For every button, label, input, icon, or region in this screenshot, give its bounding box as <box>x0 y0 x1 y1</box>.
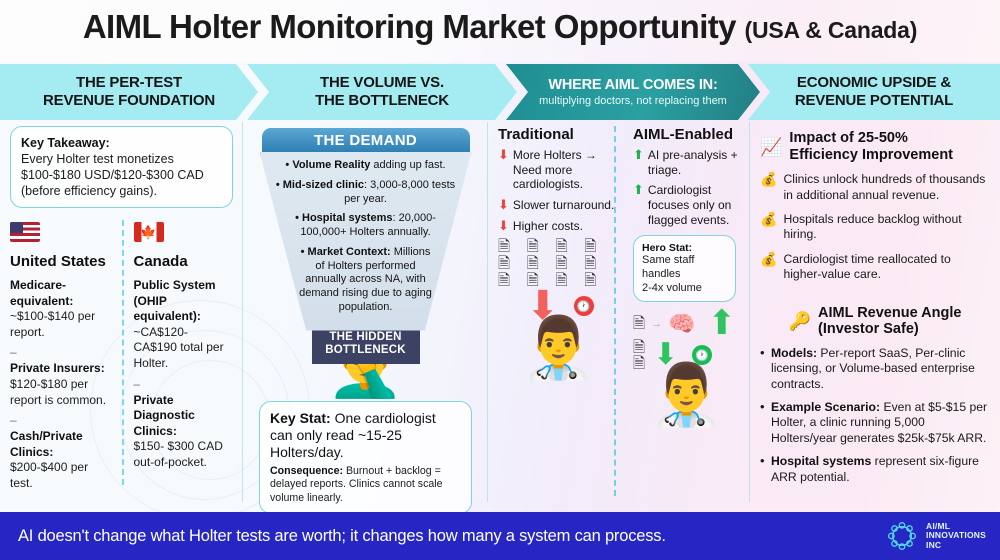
traditional-item-text: Slower turnaround. <box>513 198 614 213</box>
banner-tab-subtitle: multiplying doctors, not replacing them <box>539 95 727 107</box>
panel-title: Traditional <box>498 126 619 143</box>
funnel-item: • Volume Reality adding up fast. <box>275 159 457 173</box>
rate-text: ~CA$120-CA$190 total per Holter. <box>134 325 224 370</box>
key-stat-card: Key Stat: One cardiologist can only read… <box>259 401 472 514</box>
bottleneck-line2: BOTTLENECK <box>325 344 406 356</box>
revenue-item-label: Models: <box>771 346 817 360</box>
rate-item: Public System (OHIP equivalent): ~CA$120… <box>134 278 226 372</box>
document-icon: 🗎 <box>498 256 527 271</box>
country-canada: Canada Public System (OHIP equivalent): … <box>122 222 234 492</box>
key-stat-label: Key Stat: <box>270 410 331 426</box>
banner-tab-volume-bottleneck[interactable]: THE VOLUME VS. THE BOTTLENECK <box>247 64 517 120</box>
key-icon: 🔑 <box>789 312 811 330</box>
document-icon: 🗎 <box>556 256 585 271</box>
rate-item: Cash/Private Clinics: $200-$400 per test… <box>10 429 114 491</box>
document-icon: 🗎 <box>633 340 645 355</box>
canada-flag-icon <box>134 222 164 242</box>
comparison-divider <box>614 126 616 496</box>
funnel-body: • Volume Reality adding up fast. • Mid-s… <box>260 152 472 331</box>
column-economic-upside: 📈 Impact of 25-50% Efficiency Improvemen… <box>750 120 1000 505</box>
revenue-angle-section-header: 🔑 AIML Revenue Angle (Investor Safe) <box>760 305 990 338</box>
traditional-item: ⬇ Slower turnaround. <box>498 198 619 213</box>
document-icon: 🗎 <box>498 239 527 254</box>
efficiency-title-line1: Impact of 25-50% <box>789 130 907 146</box>
revenue-item-label: Hospital systems <box>771 454 871 468</box>
consequence-label: Consequence: <box>270 465 343 477</box>
revenue-angle-title-line1: AIML Revenue Angle <box>818 305 961 321</box>
banner-tab-per-test-revenue[interactable]: THE PER-TEST REVENUE FOUNDATION <box>0 64 258 120</box>
green-up-arrow-icon: ⬆ <box>707 310 736 337</box>
document-icon: 🗎 <box>527 239 556 254</box>
document-icon: 🗎 <box>633 316 645 331</box>
banner-tab-where-aiml-comes-in[interactable]: WHERE AIML COMES IN: multiplying doctors… <box>506 64 760 120</box>
rate-item: Medicare-equivalent: ~$100-$140 per repo… <box>10 278 114 340</box>
efficiency-item-text: Clinics unlock hundreds of thousands in … <box>783 172 990 203</box>
funnel-item-label: Mid-sized clinic <box>283 179 364 191</box>
key-stat-line: Key Stat: One cardiologist can only read… <box>270 410 461 461</box>
rate-label: Public System (OHIP equivalent): <box>134 278 216 323</box>
banner-tab-line1: WHERE AIML COMES IN: <box>548 77 717 93</box>
item-separator: – <box>134 377 226 391</box>
arrow-up-icon: ⬆ <box>633 183 644 197</box>
arrow-up-icon: ⬆ <box>633 148 644 162</box>
rate-text: $120-$180 per report is common. <box>10 377 106 407</box>
page-title-main: AIML Holter Monitoring Market Opportunit… <box>83 8 736 45</box>
efficiency-item: 💰 Cardiologist time reallocated to highe… <box>760 252 990 283</box>
rate-label: Medicare-equivalent: <box>10 278 73 308</box>
comparison-panels: Traditional ⬇ More Holters → Need more c… <box>498 126 740 425</box>
rate-text: $200-$400 per test. <box>10 460 88 490</box>
page-title-region: (USA & Canada) <box>744 17 917 43</box>
revenue-item: Models: Per-report SaaS, Per-clinic lice… <box>760 346 990 392</box>
column-where-aiml-comes-in: Traditional ⬇ More Holters → Need more c… <box>488 120 750 505</box>
funnel-item-label: Hospital systems <box>302 212 392 224</box>
panel-traditional: Traditional ⬇ More Holters → Need more c… <box>498 126 619 425</box>
document-stack-group: 🗎🗎🗎🗎 🗎🗎🗎🗎 🗎🗎🗎🗎 <box>498 239 613 288</box>
logo-text: AI/ML INNOVATIONS INC <box>926 522 986 551</box>
arrow-down-icon: ⬇ <box>498 148 509 162</box>
revenue-item: Example Scenario: Even at $5-$15 per Hol… <box>760 400 990 446</box>
efficiency-item-text: Hospitals reduce backlog without hiring. <box>783 212 990 243</box>
demand-funnel: THE DEMAND • Volume Reality adding up fa… <box>253 128 478 333</box>
logo-line3: INC <box>926 541 986 551</box>
key-takeaway-label: Key Takeaway: <box>21 136 110 150</box>
country-name: Canada <box>134 253 226 270</box>
banner-tab-economic-upside[interactable]: ECONOMIC UPSIDE & REVENUE POTENTIAL <box>748 64 1000 120</box>
country-name: United States <box>10 253 114 270</box>
document-icon: 🗎 <box>633 356 645 371</box>
coin-icon: 💰 <box>760 212 777 243</box>
rate-text: ~$100-$140 per report. <box>10 309 95 339</box>
columns-container: Key Takeaway: Every Holter test monetize… <box>0 120 1000 505</box>
rate-text: $150- $300 CAD out-of-pocket. <box>134 439 223 469</box>
aiml-flow-top: 🗎 → 🧠 ⬆ <box>633 310 740 337</box>
hero-stat-label: Hero Stat: <box>642 242 727 254</box>
efficiency-section-header: 📈 Impact of 25-50% Efficiency Improvemen… <box>760 130 990 163</box>
hero-stat-card: Hero Stat: Same staff handles 2-4x volum… <box>633 235 736 302</box>
company-logo: AI/ML INNOVATIONS INC <box>885 519 986 553</box>
rate-label: Private Insurers: <box>10 361 105 375</box>
footer-bar: AI doesn't change what Holter tests are … <box>0 512 1000 560</box>
rate-item: Private Diagnostic Clinics: $150- $300 C… <box>134 393 226 471</box>
funnel-item-label: Market Context: <box>308 246 391 258</box>
funnel-item: • Mid-sized clinic: 3,000-8,000 tests pe… <box>275 179 457 207</box>
document-icon: 🗎 <box>584 273 613 288</box>
item-separator: – <box>10 345 114 359</box>
country-comparison: United States Medicare-equivalent: ~$100… <box>10 222 233 492</box>
traditional-item: ⬇ More Holters → Need more cardiologists… <box>498 148 619 192</box>
aiml-item: ⬆ AI pre-analysis + triage. <box>633 148 740 177</box>
arrow-right-icon: → <box>651 318 662 330</box>
efficiency-item: 💰 Hospitals reduce backlog without hirin… <box>760 212 990 243</box>
document-icon: 🗎 <box>498 273 527 288</box>
country-divider <box>122 220 124 485</box>
panel-title: AIML-Enabled <box>633 126 740 143</box>
arrow-down-icon: ⬇ <box>498 219 509 233</box>
banner-tab-line1: THE VOLUME VS. <box>320 74 444 91</box>
funnel-item: • Market Context: Millions of Holters pe… <box>275 246 457 315</box>
document-icon: 🗎 <box>556 273 585 288</box>
traditional-item-text: More Holters → Need more cardiologists. <box>513 148 619 192</box>
footer-tagline: AI doesn't change what Holter tests are … <box>18 527 666 546</box>
banner-tab-line2: REVENUE FOUNDATION <box>43 92 215 109</box>
banner-tab-line1: THE PER-TEST <box>76 74 182 91</box>
efficiency-item-text: Cardiologist time reallocated to higher-… <box>783 252 990 283</box>
infographic-page: AIML Holter Monitoring Market Opportunit… <box>0 0 1000 560</box>
key-takeaway-body: Every Holter test monetizes $100-$180 US… <box>21 152 204 198</box>
consequence-line: Consequence: Burnout + backlog = delayed… <box>270 465 461 505</box>
us-flag-icon <box>10 222 40 242</box>
document-icon: 🗎 <box>584 239 613 254</box>
country-united-states: United States Medicare-equivalent: ~$100… <box>10 222 122 492</box>
rate-label: Cash/Private Clinics: <box>10 429 83 459</box>
efficiency-item: 💰 Clinics unlock hundreds of thousands i… <box>760 172 990 203</box>
traditional-item: ⬇ Higher costs. <box>498 219 619 234</box>
aiml-item-text: Cardiologist focuses only on flagged eve… <box>648 183 740 227</box>
bottleneck-line1: THE HIDDEN <box>329 331 401 343</box>
coin-icon: 💰 <box>760 172 777 203</box>
hero-stat-line1: Same staff handles <box>642 254 727 282</box>
traditional-item-text: Higher costs. <box>513 219 583 234</box>
banner-tab-line2: THE BOTTLENECK <box>315 92 449 109</box>
starburst-logo-icon <box>885 519 919 553</box>
document-icon: 🗎 <box>584 256 613 271</box>
panel-aiml-enabled: AIML-Enabled ⬆ AI pre-analysis + triage.… <box>619 126 740 425</box>
revenue-angle-title-line2: (Investor Safe) <box>818 321 919 337</box>
sad-doctor-icon: 👨‍⚕️ <box>498 318 619 378</box>
revenue-item-label: Example Scenario: <box>771 400 880 414</box>
revenue-item: Hospital systems represent six-figure AR… <box>760 454 990 485</box>
rate-label: Private Diagnostic Clinics: <box>134 393 195 438</box>
column-per-test-revenue: Key Takeaway: Every Holter test monetize… <box>0 120 243 505</box>
arrow-down-icon: ⬇ <box>498 198 509 212</box>
funnel-item: • Hospital systems: 20,000-100,000+ Holt… <box>275 212 457 240</box>
item-separator: – <box>10 413 114 427</box>
funnel-item-text: adding up fast. <box>370 159 445 171</box>
coin-icon: 💰 <box>760 252 777 283</box>
section-banner: THE PER-TEST REVENUE FOUNDATION THE VOLU… <box>0 64 1000 120</box>
funnel-item-label: Volume Reality <box>292 159 370 171</box>
aiml-item-text: AI pre-analysis + triage. <box>648 148 740 177</box>
hero-stat-line2: 2-4x volume <box>642 282 727 296</box>
document-icon: 🗎 <box>556 239 585 254</box>
trend-line-icon: 📈 <box>760 138 782 156</box>
banner-tab-line2: REVENUE POTENTIAL <box>795 92 953 109</box>
page-title: AIML Holter Monitoring Market Opportunit… <box>0 8 1000 46</box>
funnel-title: THE DEMAND <box>262 128 470 152</box>
column-volume-bottleneck: THE DEMAND • Volume Reality adding up fa… <box>243 120 488 505</box>
document-icon: 🗎 <box>527 256 556 271</box>
happy-doctor-icon: 👨‍⚕️ <box>633 365 740 425</box>
efficiency-title-line2: Efficiency Improvement <box>789 147 953 163</box>
ai-brain-icon: 🧠 <box>668 313 695 335</box>
banner-tab-line1: ECONOMIC UPSIDE & <box>797 74 951 91</box>
rate-item: Private Insurers: $120-$180 per report i… <box>10 361 114 408</box>
key-takeaway-card: Key Takeaway: Every Holter test monetize… <box>10 126 233 208</box>
aiml-item: ⬆ Cardiologist focuses only on flagged e… <box>633 183 740 227</box>
